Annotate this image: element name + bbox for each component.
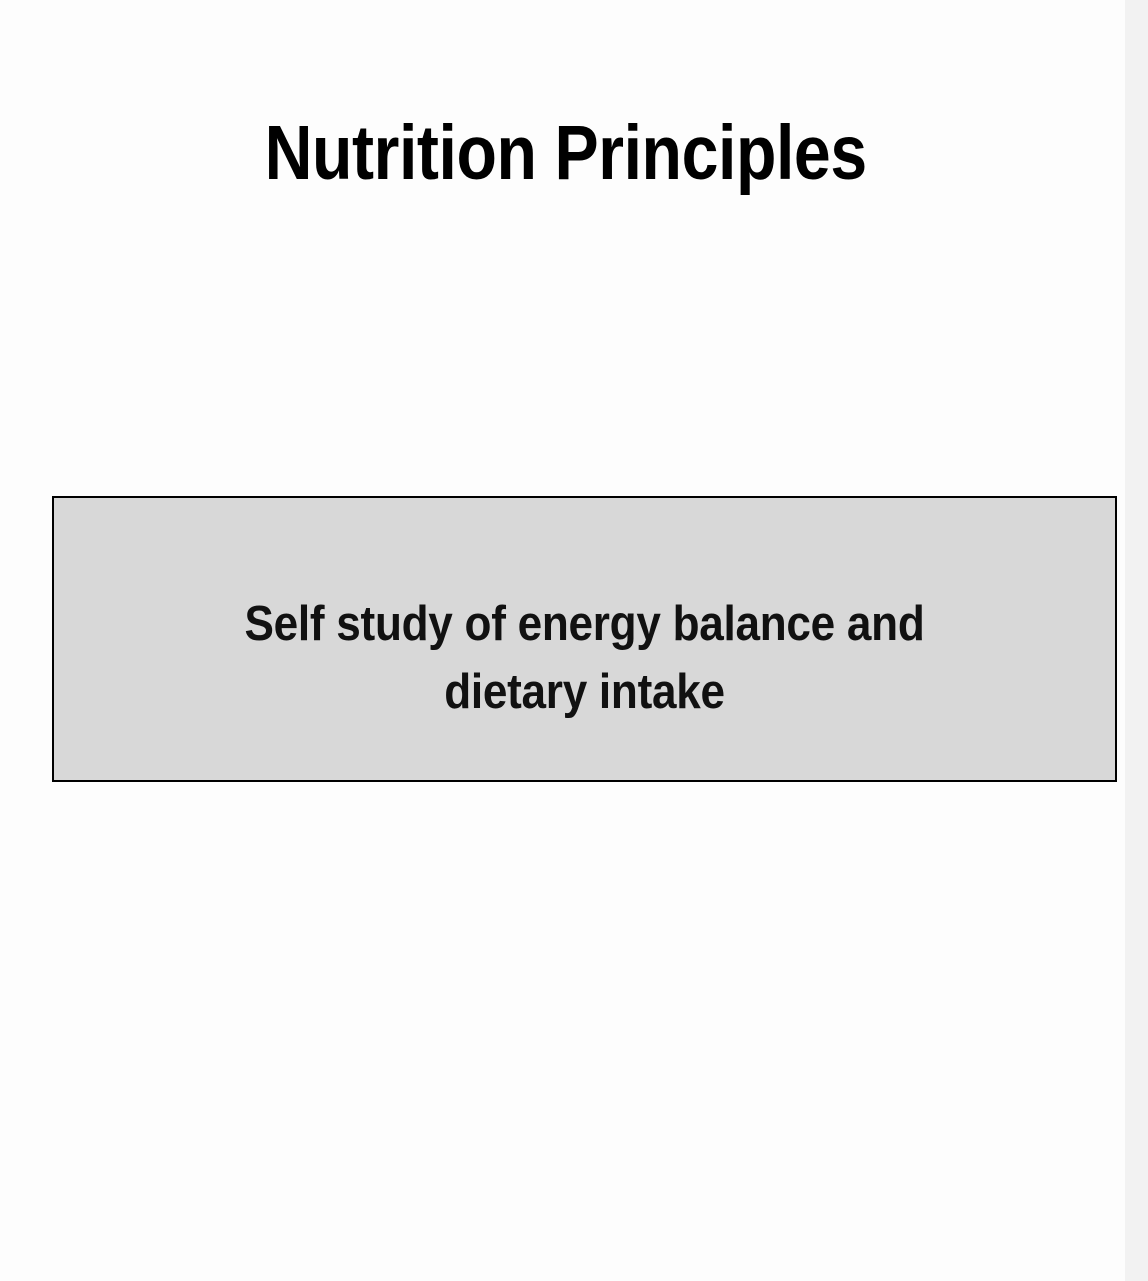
content-box-text: Self study of energy balance and dietary… (107, 590, 1062, 726)
page-title: Nutrition Principles (82, 108, 1050, 198)
content-line-2: dietary intake (134, 658, 1035, 726)
slide-canvas: Nutrition Principles Self study of energ… (0, 0, 1148, 1281)
content-box: Self study of energy balance and dietary… (52, 496, 1117, 782)
slide-content-area: Nutrition Principles Self study of energ… (0, 0, 1125, 1281)
content-line-1: Self study of energy balance and (134, 590, 1035, 658)
page-edge-strip (1125, 0, 1148, 1281)
